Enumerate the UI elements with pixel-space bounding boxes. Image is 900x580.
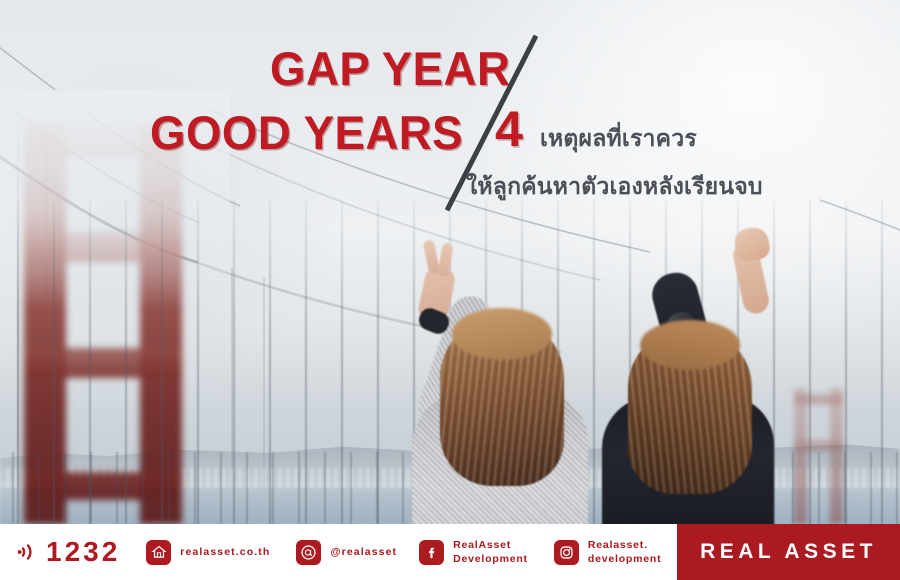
footer-facebook[interactable]: RealAsset Development bbox=[419, 538, 528, 566]
right-woman-fist bbox=[733, 226, 771, 262]
headline-number: 4 bbox=[495, 104, 523, 154]
left-woman-hair-highlight bbox=[452, 308, 552, 360]
footer-contact-list: 1232 realasset.co.th bbox=[0, 524, 677, 580]
facebook-label-line-1: RealAsset bbox=[453, 538, 528, 552]
website-label: realasset.co.th bbox=[180, 545, 270, 559]
two-women-subjects bbox=[390, 232, 820, 524]
instagram-label-wrap: Realasset. development bbox=[588, 538, 662, 566]
instagram-label-line-1: Realasset. bbox=[588, 538, 662, 552]
footer-phone[interactable]: 1232 bbox=[16, 538, 120, 566]
banner-stage: GAP YEAR GOOD YEARS 4 เหตุผลที่เราควร ให… bbox=[0, 0, 900, 580]
facebook-label-line-2: Development bbox=[453, 552, 528, 566]
contact-footer: 1232 realasset.co.th bbox=[0, 524, 900, 580]
brand-name: REAL ASSET bbox=[700, 540, 877, 564]
facebook-label-wrap: RealAsset Development bbox=[453, 538, 528, 566]
instagram-icon bbox=[554, 540, 579, 565]
headline-line-2: GOOD YEARS bbox=[150, 109, 463, 156]
line-label: @realasset bbox=[330, 545, 397, 559]
right-woman-hair-highlight bbox=[640, 320, 740, 370]
facebook-icon bbox=[419, 540, 444, 565]
footer-line[interactable]: @realasset bbox=[296, 540, 397, 565]
thai-subhead-line-2: ให้ลูกค้นหาตัวเองหลังเรียนจบ bbox=[466, 172, 763, 201]
call-wave-icon bbox=[16, 539, 42, 565]
phone-number: 1232 bbox=[46, 538, 120, 566]
footer-website[interactable]: realasset.co.th bbox=[146, 540, 270, 565]
thai-subhead-line-1: เหตุผลที่เราควร bbox=[540, 124, 697, 153]
headline-line-1: GAP YEAR bbox=[270, 45, 510, 92]
line-at-icon bbox=[296, 540, 321, 565]
headline-block: GAP YEAR GOOD YEARS 4 เหตุผลที่เราควร ให… bbox=[0, 0, 900, 230]
instagram-label-line-2: development bbox=[588, 552, 662, 566]
brand-logo-block[interactable]: REAL ASSET bbox=[677, 524, 900, 580]
home-icon bbox=[146, 540, 171, 565]
footer-instagram[interactable]: Realasset. development bbox=[554, 538, 662, 566]
